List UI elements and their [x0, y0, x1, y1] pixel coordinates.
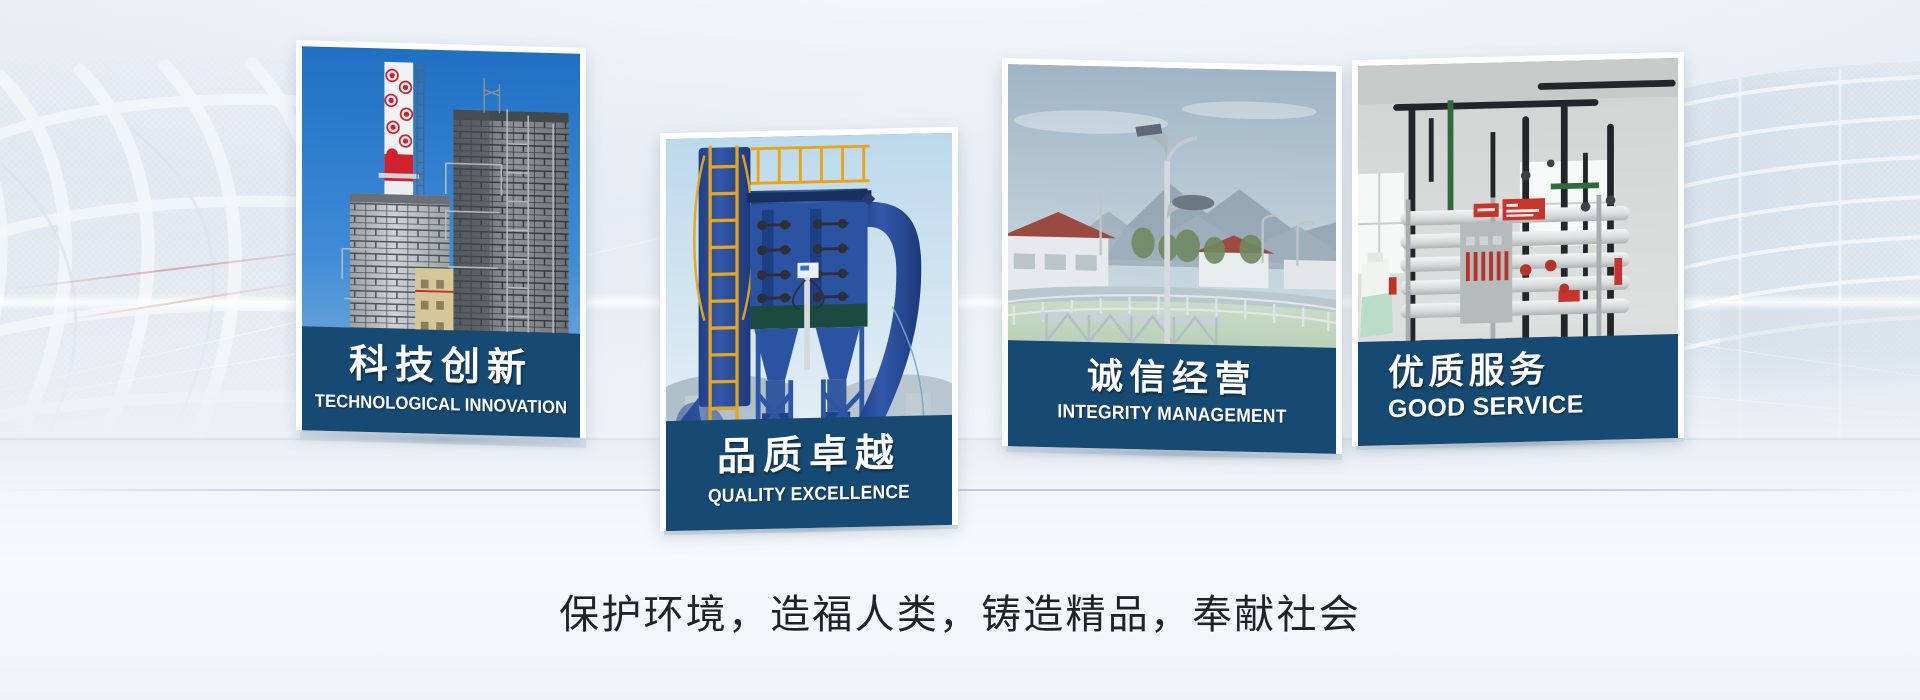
caption-cn-1: 科技创新 [302, 343, 580, 390]
banner-stage: 科技创新 TECHNOLOGICAL INNOVATION [0, 0, 1920, 700]
caption-cn-3: 诚信经营 [1008, 356, 1336, 400]
caption-cn-4: 优质服务 [1388, 348, 1678, 391]
card-caption-3: 诚信经营 INTEGRITY MANAGEMENT [1008, 340, 1336, 454]
card-caption-2: 品质卓越 QUALITY EXCELLENCE [666, 415, 952, 531]
feature-card-integrity-management[interactable]: 诚信经营 INTEGRITY MANAGEMENT [1002, 58, 1342, 454]
caption-en-1: TECHNOLOGICAL INNOVATION [313, 392, 569, 417]
caption-en-4: GOOD SERVICE [1388, 390, 1678, 422]
card-caption-1: 科技创新 TECHNOLOGICAL INNOVATION [302, 326, 580, 438]
feature-card-quality-excellence[interactable]: 品质卓越 QUALITY EXCELLENCE [660, 127, 958, 532]
card-caption-4: 优质服务 GOOD SERVICE [1358, 334, 1678, 446]
caption-en-3: INTEGRITY MANAGEMENT [1021, 401, 1323, 427]
feature-card-good-service[interactable]: 优质服务 GOOD SERVICE [1352, 52, 1684, 446]
caption-en-2: QUALITY EXCELLENCE [677, 482, 940, 507]
banner-tagline: 保护环境，造福人类，铸造精品，奉献社会 [0, 582, 1920, 640]
caption-cn-2: 品质卓越 [666, 433, 952, 478]
feature-card-technological-innovation[interactable]: 科技创新 TECHNOLOGICAL INNOVATION [296, 40, 586, 438]
